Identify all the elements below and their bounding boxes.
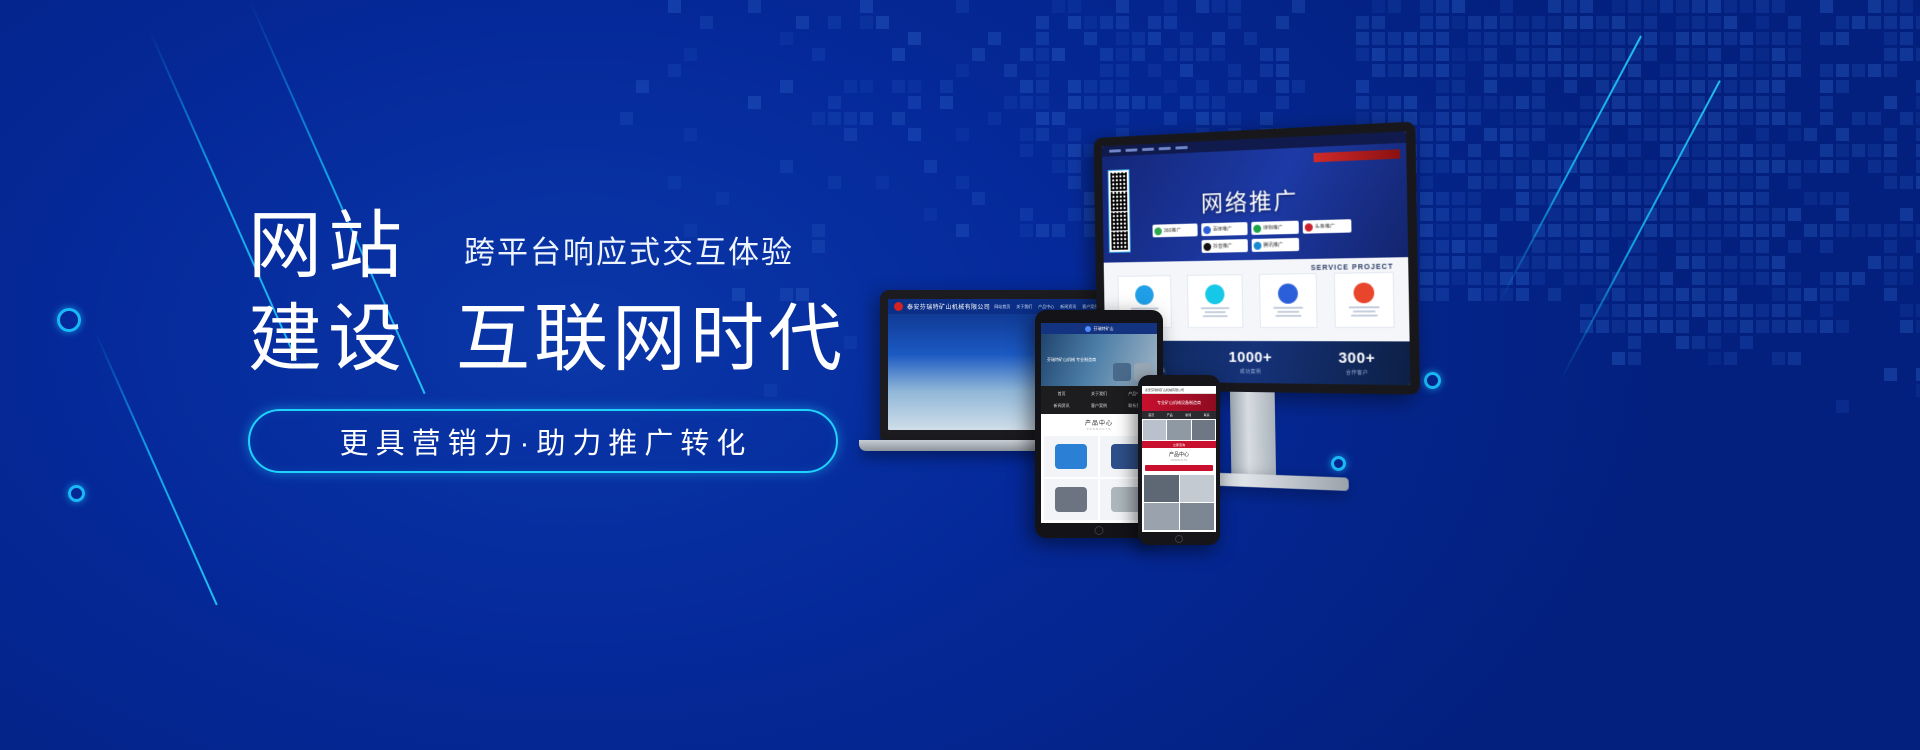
nav-item[interactable]: 新闻 <box>1179 411 1198 419</box>
text-line <box>1350 314 1377 316</box>
imac-stand-neck <box>1230 392 1276 479</box>
map-dot <box>1020 80 1033 93</box>
stat-value: 300+ <box>1338 349 1375 367</box>
map-dot <box>1484 32 1497 45</box>
map-dot <box>1708 80 1721 93</box>
map-dot <box>1772 80 1785 93</box>
map-dot <box>1068 96 1081 109</box>
nav-item[interactable]: 产品 <box>1161 411 1180 419</box>
map-dot <box>1900 224 1913 237</box>
map-dot <box>1724 96 1737 109</box>
map-dot <box>1740 48 1753 61</box>
nav-item[interactable]: 首页 <box>1142 411 1161 419</box>
tagline-box: 更具营销力·助力推广转化 <box>248 409 838 473</box>
map-dot <box>1356 48 1369 61</box>
nav-item[interactable]: 产品中心 <box>1038 304 1054 310</box>
map-dot <box>1084 16 1097 29</box>
map-dot <box>812 112 825 125</box>
map-dot <box>1916 240 1920 253</box>
ring-marker <box>57 308 81 332</box>
map-dot <box>1916 144 1920 157</box>
platform-badge[interactable]: 百度推广 <box>1201 222 1247 236</box>
headline-line1: 网站 <box>248 205 408 288</box>
map-dot <box>1772 48 1785 61</box>
map-dot <box>1836 64 1849 77</box>
map-dot <box>1820 80 1833 93</box>
map-dot <box>1900 256 1913 269</box>
map-dot <box>1916 304 1920 317</box>
map-dot <box>1036 32 1049 45</box>
tablet-hero-text: 芬瑞特矿山机械 专业制造商 <box>1041 357 1096 363</box>
nav-item-placeholder <box>1142 148 1154 151</box>
map-dot <box>1404 64 1417 77</box>
map-dot <box>1212 0 1225 13</box>
platform-badge[interactable]: 搜狗推广 <box>1251 221 1299 235</box>
platform-badge[interactable]: 腾讯推广 <box>1252 238 1300 252</box>
map-dot <box>1916 320 1920 333</box>
map-dot <box>1596 48 1609 61</box>
device-mockup-group: 泰安芬瑞特矿山机械有限公司 网站首页关于我们产品中心新闻资讯客户案例公司风采联系… <box>880 120 1880 640</box>
map-dot <box>1052 0 1065 13</box>
map-dot <box>1116 0 1129 13</box>
map-dot <box>940 96 953 109</box>
map-dot <box>1708 16 1721 29</box>
map-dot <box>1244 80 1257 93</box>
map-dot <box>1532 32 1545 45</box>
map-dot <box>1484 64 1497 77</box>
map-dot <box>668 176 681 189</box>
product-cell <box>1044 436 1098 477</box>
map-dot <box>1356 80 1369 93</box>
map-dot <box>1900 112 1913 125</box>
map-dot <box>1884 176 1897 189</box>
product-thumb <box>1113 363 1131 381</box>
map-dot <box>1580 0 1593 13</box>
map-dot <box>1596 96 1609 109</box>
text-line <box>1273 307 1303 309</box>
ray-line <box>94 330 217 605</box>
map-dot <box>1292 0 1305 13</box>
map-dot <box>1180 32 1193 45</box>
map-dot <box>1580 96 1593 109</box>
map-dot <box>1692 0 1705 13</box>
map-dot <box>1772 64 1785 77</box>
platform-badge[interactable]: 头条推广 <box>1303 219 1352 234</box>
map-dot <box>1532 64 1545 77</box>
product-image <box>1180 475 1215 502</box>
map-dot <box>1276 48 1289 61</box>
map-dot <box>1692 96 1705 109</box>
map-dot <box>1372 16 1385 29</box>
map-dot <box>1452 48 1465 61</box>
map-dot <box>1116 32 1129 45</box>
map-dot <box>1580 16 1593 29</box>
map-dot <box>1884 144 1897 157</box>
map-dot <box>1516 16 1529 29</box>
map-dot <box>940 80 953 93</box>
map-dot <box>1356 16 1369 29</box>
phone-image-strip <box>1142 419 1216 441</box>
map-dot <box>1612 96 1625 109</box>
map-dot <box>1388 32 1401 45</box>
map-dot <box>844 80 857 93</box>
map-dot <box>1020 48 1033 61</box>
map-dot <box>1228 64 1241 77</box>
text-line <box>1277 311 1299 313</box>
nav-item[interactable]: 客户案例 <box>1081 401 1116 411</box>
map-dot <box>1436 96 1449 109</box>
imac-service-title: SERVICE PROJECT <box>1311 264 1394 272</box>
map-dot <box>1916 384 1920 397</box>
stat-item: 1000+ 成功案例 <box>1228 349 1272 375</box>
map-dot <box>1436 64 1449 77</box>
map-dot <box>1884 32 1897 45</box>
map-dot <box>1516 96 1529 109</box>
map-dot <box>1420 0 1433 13</box>
map-dot <box>1820 0 1833 13</box>
map-dot <box>1628 48 1641 61</box>
laptop-company-name: 泰安芬瑞特矿山机械有限公司 <box>907 302 990 311</box>
service-circle-icon <box>1277 283 1297 303</box>
map-dot <box>1436 32 1449 45</box>
product-cell <box>1044 479 1098 520</box>
tablet-home-button[interactable] <box>1095 526 1104 535</box>
map-dot <box>1500 16 1513 29</box>
map-dot <box>1916 160 1920 173</box>
map-dot <box>1612 32 1625 45</box>
map-dot <box>1276 16 1289 29</box>
map-dot <box>1708 32 1721 45</box>
map-dot <box>1116 48 1129 61</box>
map-dot <box>1628 96 1641 109</box>
map-dot <box>1164 16 1177 29</box>
map-dot <box>1868 0 1881 13</box>
map-dot <box>860 80 873 93</box>
map-dot <box>1420 32 1433 45</box>
map-dot <box>1404 32 1417 45</box>
map-dot <box>1916 16 1920 29</box>
map-dot <box>1196 0 1209 13</box>
map-dot <box>1388 0 1401 13</box>
map-dot <box>716 192 729 205</box>
map-dot <box>1676 32 1689 45</box>
map-dot <box>1580 48 1593 61</box>
map-dot <box>1884 240 1897 253</box>
map-dot <box>1260 64 1273 77</box>
map-dot <box>620 112 633 125</box>
map-dot <box>860 0 873 13</box>
map-dot <box>1900 208 1913 221</box>
product-image <box>1055 444 1087 469</box>
map-dot <box>1068 80 1081 93</box>
map-dot <box>1644 80 1657 93</box>
tablet-site-header: 芬瑞特矿山 <box>1041 323 1157 334</box>
map-dot <box>1532 96 1545 109</box>
map-dot <box>1836 16 1849 29</box>
map-dot <box>1900 176 1913 189</box>
map-dot <box>1276 96 1289 109</box>
headline-line2: 建设 <box>248 298 408 379</box>
phone-home-button[interactable] <box>1175 535 1183 543</box>
nav-item[interactable]: 新闻资讯 <box>1044 401 1079 411</box>
map-dot <box>1036 64 1049 77</box>
map-dot <box>844 112 857 125</box>
map-dot <box>1596 64 1609 77</box>
map-dot <box>1884 128 1897 141</box>
map-dot <box>1100 80 1113 93</box>
map-dot <box>1676 48 1689 61</box>
map-dot <box>1900 32 1913 45</box>
platform-badge[interactable]: 抖音推广 <box>1202 239 1248 253</box>
service-card <box>1333 271 1394 327</box>
map-dot <box>860 16 873 29</box>
map-dot <box>1580 64 1593 77</box>
map-dot <box>1548 48 1561 61</box>
map-dot <box>1628 0 1641 13</box>
platform-badge[interactable]: 360推广 <box>1152 223 1197 237</box>
map-dot <box>1100 64 1113 77</box>
map-dot <box>1740 80 1753 93</box>
nav-item-placeholder <box>1125 148 1137 151</box>
map-dot <box>1004 96 1017 109</box>
map-dot <box>1468 32 1481 45</box>
map-dot <box>1708 96 1721 109</box>
map-dot <box>1692 64 1705 77</box>
map-dot <box>1660 0 1673 13</box>
map-dot <box>1884 224 1897 237</box>
map-dot <box>1548 64 1561 77</box>
imac-hero-title: 网络推广 <box>1201 181 1299 218</box>
map-dot <box>1564 48 1577 61</box>
map-dot <box>892 48 905 61</box>
platform-badge-icon <box>1253 224 1261 232</box>
map-dot <box>1916 368 1920 381</box>
map-dot <box>1916 48 1920 61</box>
map-dot <box>1884 64 1897 77</box>
imac-qr-sidebar <box>1108 169 1131 253</box>
phone-strip-image <box>1143 420 1166 440</box>
map-dot <box>1884 288 1897 301</box>
map-dot <box>1692 32 1705 45</box>
map-dot <box>1724 80 1737 93</box>
map-dot <box>1132 32 1145 45</box>
nav-item[interactable]: 网站首页 <box>994 304 1010 310</box>
map-dot <box>1820 32 1833 45</box>
headline-line2b: 互联网时代 <box>408 298 846 379</box>
platform-badge-label: 360推广 <box>1164 227 1181 234</box>
map-dot <box>1660 32 1673 45</box>
map-dot <box>1644 32 1657 45</box>
imac-hero-section: 网络推广 360推广百度推广搜狗推广头条推广抖音推广腾讯推广 <box>1102 143 1408 263</box>
nav-item[interactable]: 联系 <box>1198 411 1217 419</box>
map-dot <box>1276 80 1289 93</box>
map-dot <box>1644 96 1657 109</box>
map-dot <box>956 0 969 13</box>
map-dot <box>1708 0 1721 13</box>
map-dot <box>812 48 825 61</box>
map-dot <box>892 80 905 93</box>
phone-header-text: 泰安芬瑞特矿山机械有限公司 <box>1145 388 1184 392</box>
map-dot <box>1116 96 1129 109</box>
map-dot <box>1388 64 1401 77</box>
map-dot <box>1484 48 1497 61</box>
map-dot <box>1836 80 1849 93</box>
product-image <box>1144 475 1179 502</box>
map-dot <box>1452 16 1465 29</box>
map-dot <box>1708 48 1721 61</box>
map-dot <box>1740 0 1753 13</box>
map-dot <box>700 16 713 29</box>
map-dot <box>908 32 921 45</box>
map-dot <box>1356 96 1369 109</box>
map-dot <box>1484 16 1497 29</box>
phone-strip-image <box>1167 420 1190 440</box>
text-line <box>1200 307 1229 309</box>
map-dot <box>1660 64 1673 77</box>
tagline-text: 更具营销力·助力推广转化 <box>334 420 753 462</box>
headline-row-1: 网站 跨平台响应式交互体验 <box>248 205 888 288</box>
map-dot <box>1612 16 1625 29</box>
map-dot <box>1276 64 1289 77</box>
service-text-lines <box>1273 307 1303 317</box>
map-dot <box>828 112 841 125</box>
map-dot <box>1196 48 1209 61</box>
map-dot <box>780 32 793 45</box>
nav-item[interactable]: 关于我们 <box>1016 304 1032 310</box>
platform-badge-label: 头条推广 <box>1315 223 1335 231</box>
map-dot <box>1692 80 1705 93</box>
map-dot <box>1404 48 1417 61</box>
map-dot <box>828 96 841 109</box>
map-dot <box>1052 48 1065 61</box>
phone-promo-bar[interactable]: 立即咨询 <box>1142 441 1216 448</box>
map-dot <box>1180 64 1193 77</box>
map-dot <box>844 128 857 141</box>
map-dot <box>1548 0 1561 13</box>
map-dot <box>1724 16 1737 29</box>
phone-product-subtitle: PRODUCTS <box>1142 458 1216 462</box>
phone-strip-image <box>1192 420 1215 440</box>
map-dot <box>1228 0 1241 13</box>
map-dot <box>1884 16 1897 29</box>
map-dot <box>1500 0 1513 13</box>
map-dot <box>1420 16 1433 29</box>
map-dot <box>988 32 1001 45</box>
qr-code-icon <box>1110 172 1127 191</box>
map-dot <box>1084 80 1097 93</box>
nav-item[interactable]: 关于我们 <box>1081 389 1116 399</box>
map-dot <box>1756 64 1769 77</box>
map-dot <box>748 0 761 13</box>
map-dot <box>1436 16 1449 29</box>
map-dot <box>1468 96 1481 109</box>
phone-product-grid <box>1142 473 1216 532</box>
map-dot <box>1836 32 1849 45</box>
map-dot <box>1532 48 1545 61</box>
map-dot <box>1148 64 1161 77</box>
map-dot <box>1180 48 1193 61</box>
platform-badge-icon <box>1305 223 1313 231</box>
phone-cta-bar[interactable] <box>1145 465 1213 471</box>
map-dot <box>1916 80 1920 93</box>
phone-product-title: 产品中心 PRODUCTS <box>1142 448 1216 463</box>
map-dot <box>1036 48 1049 61</box>
map-dot <box>1900 272 1913 285</box>
phone-nav: 首页产品新闻联系 <box>1142 411 1216 419</box>
map-dot <box>1772 32 1785 45</box>
nav-item[interactable]: 新闻资讯 <box>1060 304 1076 310</box>
map-dot <box>1372 48 1385 61</box>
map-dot <box>1100 48 1113 61</box>
map-dot <box>1228 16 1241 29</box>
text-line <box>1352 310 1375 312</box>
map-dot <box>1900 16 1913 29</box>
map-dot <box>1036 16 1049 29</box>
nav-item-placeholder <box>1175 146 1187 150</box>
map-dot <box>1212 96 1225 109</box>
map-dot <box>1356 32 1369 45</box>
map-dot <box>1116 16 1129 29</box>
map-dot <box>1628 16 1641 29</box>
map-dot <box>1740 96 1753 109</box>
map-dot <box>1900 0 1913 13</box>
qr-code-icon <box>1111 231 1128 250</box>
map-dot <box>1036 96 1049 109</box>
nav-item[interactable]: 首页 <box>1044 389 1079 399</box>
map-dot <box>1596 80 1609 93</box>
hero-banner: 网站 跨平台响应式交互体验 建设 互联网时代 更具营销力·助力推广转化 泰安芬瑞… <box>0 0 1920 750</box>
map-dot <box>780 80 793 93</box>
map-dot <box>1548 32 1561 45</box>
text-line <box>1275 315 1301 317</box>
qr-code-icon <box>1111 211 1128 230</box>
platform-badge-label: 搜狗推广 <box>1263 224 1283 232</box>
map-dot <box>1372 0 1385 13</box>
map-dot <box>1756 32 1769 45</box>
map-dot <box>1388 48 1401 61</box>
map-dot <box>1676 64 1689 77</box>
service-text-lines <box>1348 306 1379 316</box>
map-dot <box>1916 96 1920 109</box>
platform-badge-label: 百度推广 <box>1213 225 1232 232</box>
map-dot <box>1532 16 1545 29</box>
ring-marker <box>68 485 85 502</box>
map-dot <box>1132 48 1145 61</box>
map-dot <box>1884 272 1897 285</box>
map-dot <box>1148 16 1161 29</box>
map-dot <box>1372 64 1385 77</box>
map-dot <box>1164 80 1177 93</box>
map-dot <box>1596 32 1609 45</box>
map-dot <box>1564 16 1577 29</box>
service-circle-icon <box>1353 283 1374 304</box>
map-dot <box>1852 16 1865 29</box>
map-dot <box>1756 16 1769 29</box>
map-dot <box>1788 48 1801 61</box>
phone-promo-text: 立即咨询 <box>1173 443 1185 447</box>
map-dot <box>1724 64 1737 77</box>
map-dot <box>1372 96 1385 109</box>
map-dot <box>1020 96 1033 109</box>
map-dot <box>1100 96 1113 109</box>
tablet-site-name: 芬瑞特矿山 <box>1094 326 1114 332</box>
map-dot <box>1740 32 1753 45</box>
map-dot <box>1676 16 1689 29</box>
map-dot <box>1452 80 1465 93</box>
map-dot <box>1228 80 1241 93</box>
service-card <box>1186 274 1242 328</box>
map-dot <box>1644 0 1657 13</box>
